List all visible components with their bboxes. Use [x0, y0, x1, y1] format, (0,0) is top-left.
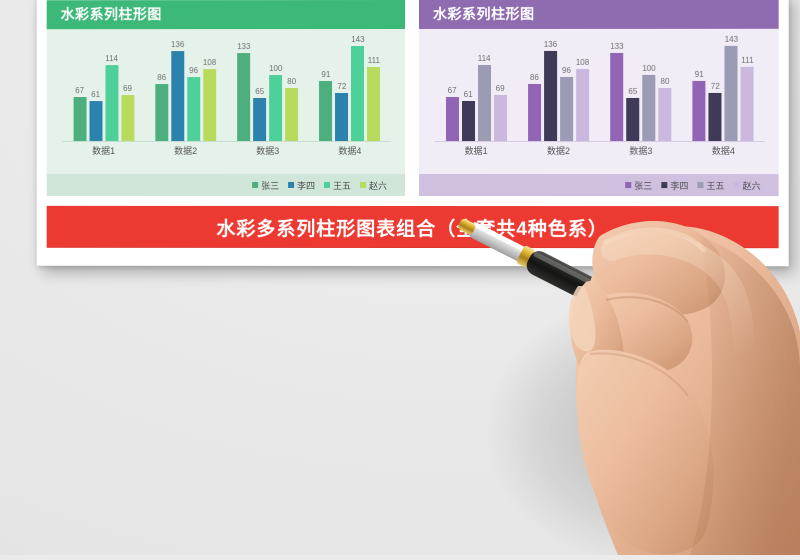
legend-item: 李四	[661, 179, 688, 192]
bar-value-label: 100	[269, 64, 282, 74]
bar	[203, 70, 216, 141]
legend-item: 赵六	[360, 178, 387, 191]
bar-item: 69	[121, 35, 134, 141]
bar-group: 676111469	[63, 35, 145, 141]
category-labels-green: 数据1数据2数据3数据4	[63, 142, 391, 160]
legend-label: 王五	[333, 178, 351, 191]
category-label: 数据3	[227, 142, 309, 160]
legend-label: 赵六	[743, 179, 761, 192]
bar-item: 91	[693, 35, 706, 141]
chart-card-green: 水彩系列柱形图 67611146986136961081336510080917…	[47, 0, 405, 196]
bar-value-label: 86	[530, 73, 539, 83]
legend-label: 张三	[261, 178, 279, 191]
legend-label: 李四	[297, 178, 315, 191]
legend-swatch-icon	[360, 182, 366, 188]
legend-label: 王五	[706, 179, 724, 192]
bar-item: 67	[73, 35, 86, 141]
bar-value-label: 69	[123, 84, 132, 94]
bar-value-label: 80	[287, 77, 296, 87]
chart-plot-area-purple: 676111469861369610813365100809172143111 …	[419, 29, 779, 174]
bar-item: 61	[462, 35, 475, 141]
bar	[121, 95, 134, 141]
bar-groups-green: 676111469861369610813365100809172143111	[63, 35, 391, 141]
category-label: 数据2	[145, 142, 227, 160]
category-label: 数据3	[600, 142, 682, 160]
bar	[741, 67, 754, 141]
bar-item: 86	[155, 35, 168, 141]
bar-item: 108	[203, 35, 216, 141]
bar	[73, 97, 86, 141]
legend-item: 王五	[697, 179, 724, 192]
bar	[725, 46, 738, 141]
bar	[709, 93, 722, 141]
bar-value-label: 143	[351, 35, 364, 45]
bar-value-label: 86	[157, 73, 166, 83]
legend-swatch-icon	[697, 182, 703, 188]
bar-item: 133	[610, 35, 623, 141]
bar-group: 1336510080	[600, 35, 682, 141]
bar-value-label: 67	[75, 86, 84, 96]
bar-value-label: 61	[464, 90, 473, 100]
bar-value-label: 65	[628, 87, 637, 97]
category-label: 数据1	[435, 142, 517, 160]
bar-item: 91	[319, 35, 332, 141]
bar	[269, 75, 282, 141]
bar-value-label: 136	[544, 40, 557, 50]
bar-item: 100	[269, 35, 282, 141]
bar	[285, 88, 298, 141]
chart-title-purple: 水彩系列柱形图	[419, 0, 779, 29]
bar-item: 65	[253, 35, 266, 141]
bar	[693, 81, 706, 141]
promo-banner-text: 水彩多系列柱形图表组合（全套共4种色系）	[216, 213, 608, 240]
bar-group: 9172143111	[309, 35, 391, 141]
bar-value-label: 108	[576, 58, 589, 68]
legend-item: 赵六	[733, 179, 760, 192]
bar-item: 96	[187, 35, 200, 141]
legend-item: 张三	[625, 179, 652, 192]
bar	[187, 77, 200, 141]
legend-label: 李四	[670, 179, 688, 192]
bar	[462, 101, 475, 141]
bar	[610, 53, 623, 141]
bar-item: 80	[658, 35, 671, 141]
legend-item: 张三	[252, 178, 279, 191]
bar-value-label: 65	[255, 87, 264, 97]
bar-value-label: 143	[725, 35, 738, 45]
bar-item: 65	[626, 35, 639, 141]
category-label: 数据2	[517, 142, 599, 160]
bar-value-label: 136	[171, 40, 184, 50]
legend-item: 王五	[324, 178, 351, 191]
bar	[658, 88, 671, 141]
bar-group: 1336510080	[227, 35, 309, 141]
category-labels-purple: 数据1数据2数据3数据4	[435, 142, 765, 160]
bar-item: 61	[89, 35, 102, 141]
category-label: 数据1	[63, 142, 145, 160]
bar-value-label: 72	[337, 82, 346, 92]
bar	[494, 95, 507, 141]
bar-value-label: 114	[478, 54, 491, 64]
bar-value-label: 133	[610, 42, 623, 52]
bar-item: 100	[642, 35, 655, 141]
legend-swatch-icon	[252, 182, 258, 188]
bar-item: 108	[576, 35, 589, 141]
bar-item: 114	[478, 35, 491, 141]
bar-groups-purple: 676111469861369610813365100809172143111	[435, 35, 765, 141]
legend-swatch-icon	[625, 182, 631, 188]
bar-value-label: 61	[91, 90, 100, 100]
chart-plot-area-green: 676111469861369610813365100809172143111 …	[47, 29, 405, 174]
legend-swatch-icon	[324, 182, 330, 188]
bar-value-label: 67	[448, 86, 457, 96]
bar	[319, 81, 332, 141]
legend-swatch-icon	[288, 182, 294, 188]
bar	[171, 51, 184, 141]
product-sheet: 水彩系列柱形图 67611146986136961081336510080917…	[37, 0, 789, 266]
bar-group: 8613696108	[145, 35, 227, 141]
bar	[576, 69, 589, 141]
bar-value-label: 108	[203, 59, 216, 69]
legend-swatch-icon	[661, 182, 667, 188]
bar-item: 133	[237, 35, 250, 141]
bar-item: 67	[446, 35, 459, 141]
bar-value-label: 91	[321, 70, 330, 80]
bar	[642, 75, 655, 141]
bar	[367, 67, 380, 141]
bar-value-label: 69	[496, 84, 505, 94]
bar	[335, 93, 348, 141]
bar-value-label: 80	[660, 77, 669, 87]
bar	[478, 65, 491, 141]
bar-item: 111	[741, 35, 754, 141]
promo-banner: 水彩多系列柱形图表组合（全套共4种色系）	[47, 206, 779, 248]
bar-value-label: 133	[237, 42, 250, 52]
bar-item: 72	[709, 35, 722, 141]
bar	[446, 97, 459, 141]
chart-card-purple: 水彩系列柱形图 67611146986136961081336510080917…	[419, 0, 779, 196]
bar	[237, 53, 250, 141]
legend-swatch-icon	[733, 182, 739, 188]
bar-item: 72	[335, 35, 348, 141]
bar-group: 676111469	[435, 35, 517, 141]
bar	[528, 84, 541, 141]
bar	[560, 77, 573, 141]
bar-value-label: 96	[562, 66, 571, 76]
chart-title-green: 水彩系列柱形图	[47, 0, 405, 29]
bar-value-label: 114	[105, 55, 118, 65]
legend-item: 李四	[288, 178, 315, 191]
bar-value-label: 100	[642, 64, 655, 74]
bar	[155, 84, 168, 141]
bar	[253, 98, 266, 141]
bar-item: 114	[105, 35, 118, 141]
bar-value-label: 96	[189, 66, 198, 76]
bar-value-label: 72	[711, 82, 720, 92]
bar-item: 86	[528, 35, 541, 141]
legend-label: 赵六	[369, 178, 387, 191]
bar-item: 69	[494, 35, 507, 141]
bar-item: 136	[544, 35, 557, 141]
bar	[105, 66, 118, 141]
bar-group: 8613696108	[517, 35, 599, 141]
bar	[351, 46, 364, 141]
legend-green: 张三李四王五赵六	[47, 174, 405, 196]
bar-value-label: 111	[368, 56, 380, 66]
legend-purple: 张三李四王五赵六	[419, 174, 779, 196]
category-label: 数据4	[682, 142, 765, 160]
legend-label: 张三	[634, 179, 652, 192]
bar-item: 143	[725, 35, 738, 141]
bar	[89, 101, 102, 141]
category-label: 数据4	[309, 142, 391, 160]
bar	[544, 51, 557, 141]
bar-item: 96	[560, 35, 573, 141]
charts-row: 水彩系列柱形图 67611146986136961081336510080917…	[47, 0, 779, 196]
bar-value-label: 111	[741, 56, 753, 66]
bar-item: 143	[351, 35, 364, 141]
bar-item: 80	[285, 35, 298, 141]
bar-group: 9172143111	[682, 35, 765, 141]
bar	[626, 98, 639, 141]
bar-item: 136	[171, 35, 184, 141]
bar-item: 111	[367, 35, 380, 141]
bar-value-label: 91	[695, 70, 704, 80]
